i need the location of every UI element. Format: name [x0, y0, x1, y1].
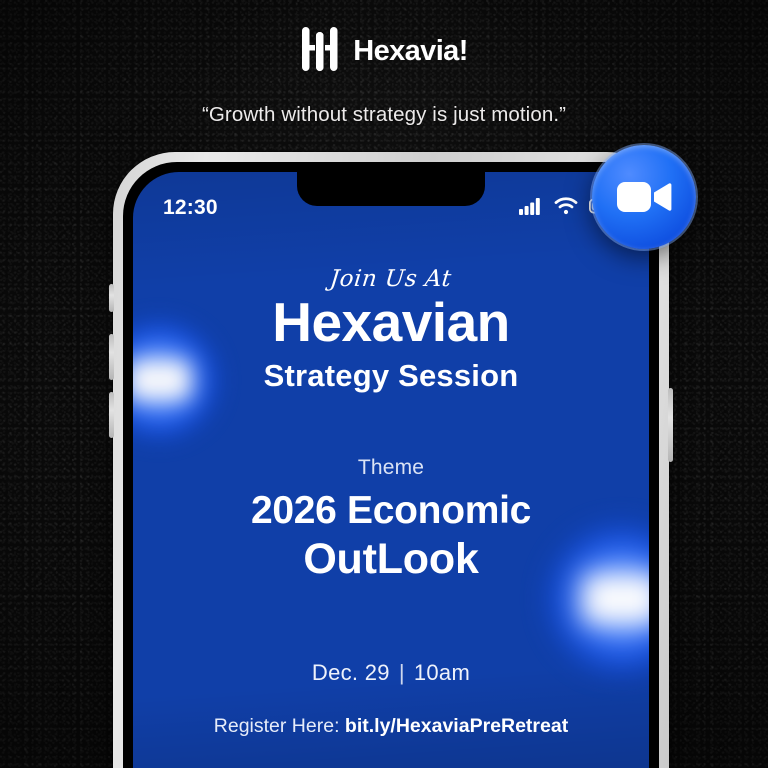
video-camera-icon-badge[interactable]: [592, 145, 696, 249]
event-date: Dec. 29: [312, 660, 390, 685]
volume-down-button[interactable]: [109, 392, 114, 438]
poster-canvas: Hexavia! “Growth without strategy is jus…: [0, 0, 768, 768]
datetime-separator: |: [390, 660, 414, 685]
theme-line-1: 2026 Economic: [251, 489, 531, 533]
register-link[interactable]: bit.ly/HexaviaPreRetreat: [345, 715, 568, 737]
volume-up-button[interactable]: [109, 334, 114, 380]
hexavia-h-logo-icon: [300, 26, 340, 77]
brand-name: Hexavia!: [353, 35, 468, 68]
eyebrow-text: Join Us At: [329, 266, 453, 292]
mute-switch[interactable]: [109, 284, 114, 312]
event-time: 10am: [414, 660, 470, 685]
power-button[interactable]: [668, 388, 673, 462]
cellular-signal-icon: [519, 197, 543, 220]
status-time: 12:30: [163, 196, 218, 220]
poster-content: Join Us At Hexavian Strategy Session The…: [133, 230, 649, 768]
header: Hexavia! “Growth without strategy is jus…: [0, 0, 768, 150]
phone-screen: 12:30: [133, 172, 649, 768]
status-bar: 12:30: [133, 172, 649, 230]
brand-lockup: Hexavia!: [300, 26, 468, 77]
tagline: “Growth without strategy is just motion.…: [202, 103, 566, 127]
wifi-icon: [554, 197, 578, 220]
event-datetime: Dec. 29|10am: [312, 660, 470, 686]
theme-line-2: OutLook: [303, 535, 478, 584]
page-subtitle: Strategy Session: [264, 358, 519, 394]
theme-label: Theme: [358, 456, 424, 480]
register-line: Register Here: bit.ly/HexaviaPreRetreat: [214, 715, 568, 738]
video-camera-icon: [616, 178, 672, 216]
page-title: Hexavian: [272, 294, 510, 352]
register-prefix: Register Here:: [214, 715, 345, 737]
phone-mockup: 12:30: [113, 152, 669, 768]
